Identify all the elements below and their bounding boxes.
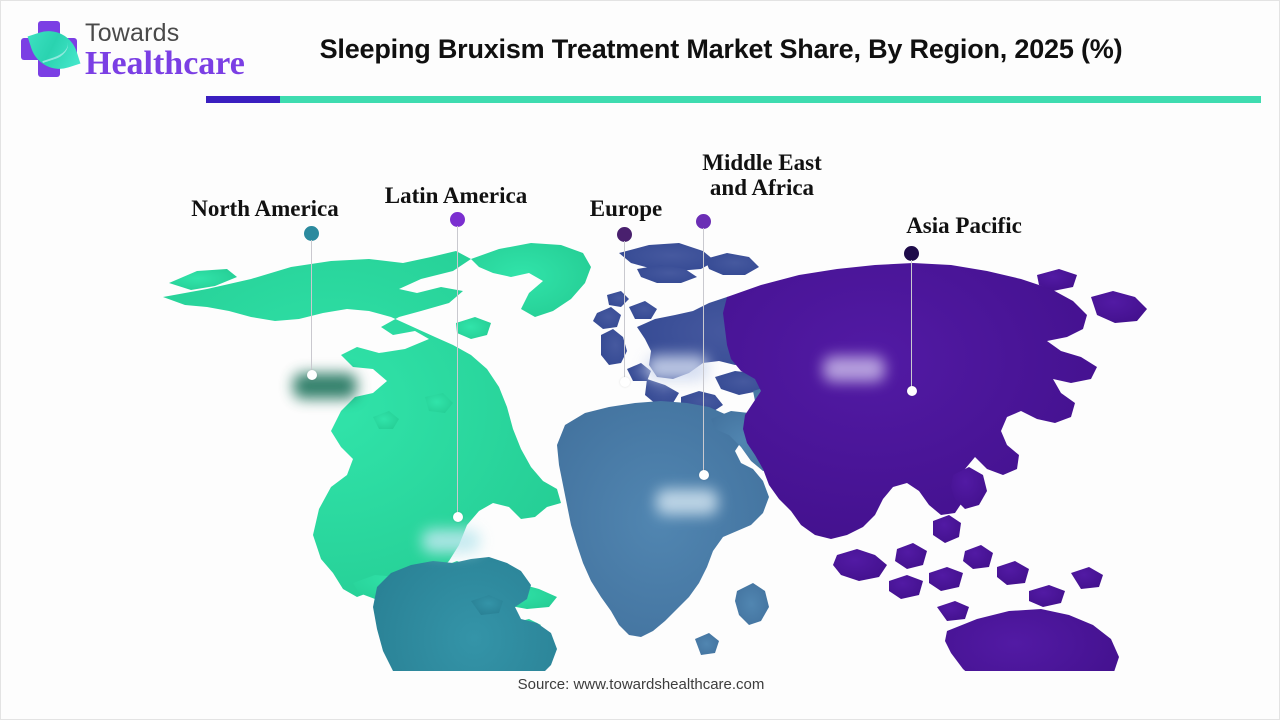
medical-cross-leaf-icon	[19, 19, 79, 79]
marker-endpoint-dot	[699, 470, 709, 480]
marker-dot-icon	[617, 227, 632, 242]
marker-leader-line	[703, 228, 705, 476]
region-label-latin-america: Latin America	[367, 184, 545, 209]
marker-leader-line	[457, 226, 459, 518]
marker-endpoint-dot	[620, 377, 630, 387]
marker-dot-icon	[450, 212, 465, 227]
region-label-europe: Europe	[576, 197, 676, 222]
source-attribution: Source: www.towardshealthcare.com	[1, 676, 1280, 693]
value-chip-middle-east-and-africa	[656, 489, 718, 515]
value-chip-europe	[646, 355, 708, 381]
marker-leader-line	[311, 240, 313, 376]
region-label-asia-pacific: Asia Pacific	[890, 214, 1038, 239]
region-label-middle-east-and-africa: Middle East and Africa	[683, 151, 841, 201]
marker-endpoint-dot	[453, 512, 463, 522]
marker-endpoint-dot	[307, 370, 317, 380]
world-map-svg	[1, 111, 1280, 671]
marker-dot-icon	[304, 226, 319, 241]
marker-leader-line	[911, 260, 913, 392]
map-region-asia-pacific[interactable]	[723, 263, 1187, 671]
title-divider	[206, 96, 1261, 103]
value-chip-latin-america	[422, 529, 480, 553]
marker-leader-line	[624, 241, 626, 383]
value-chip-north-america	[293, 373, 357, 399]
world-map	[1, 111, 1280, 671]
marker-dot-icon	[696, 214, 711, 229]
region-label-north-america: North America	[174, 197, 356, 222]
value-chip-asia-pacific	[823, 356, 885, 382]
marker-dot-icon	[904, 246, 919, 261]
page-title: Sleeping Bruxism Treatment Market Share,…	[201, 34, 1241, 65]
divider-accent-segment	[206, 96, 280, 103]
divider-main-segment	[280, 96, 1261, 103]
infographic-page: Towards Healthcare Sleeping Bruxism Trea…	[0, 0, 1280, 720]
marker-endpoint-dot	[907, 386, 917, 396]
brand-name-top: Towards	[85, 19, 180, 48]
map-region-latin-america[interactable]	[373, 557, 557, 671]
